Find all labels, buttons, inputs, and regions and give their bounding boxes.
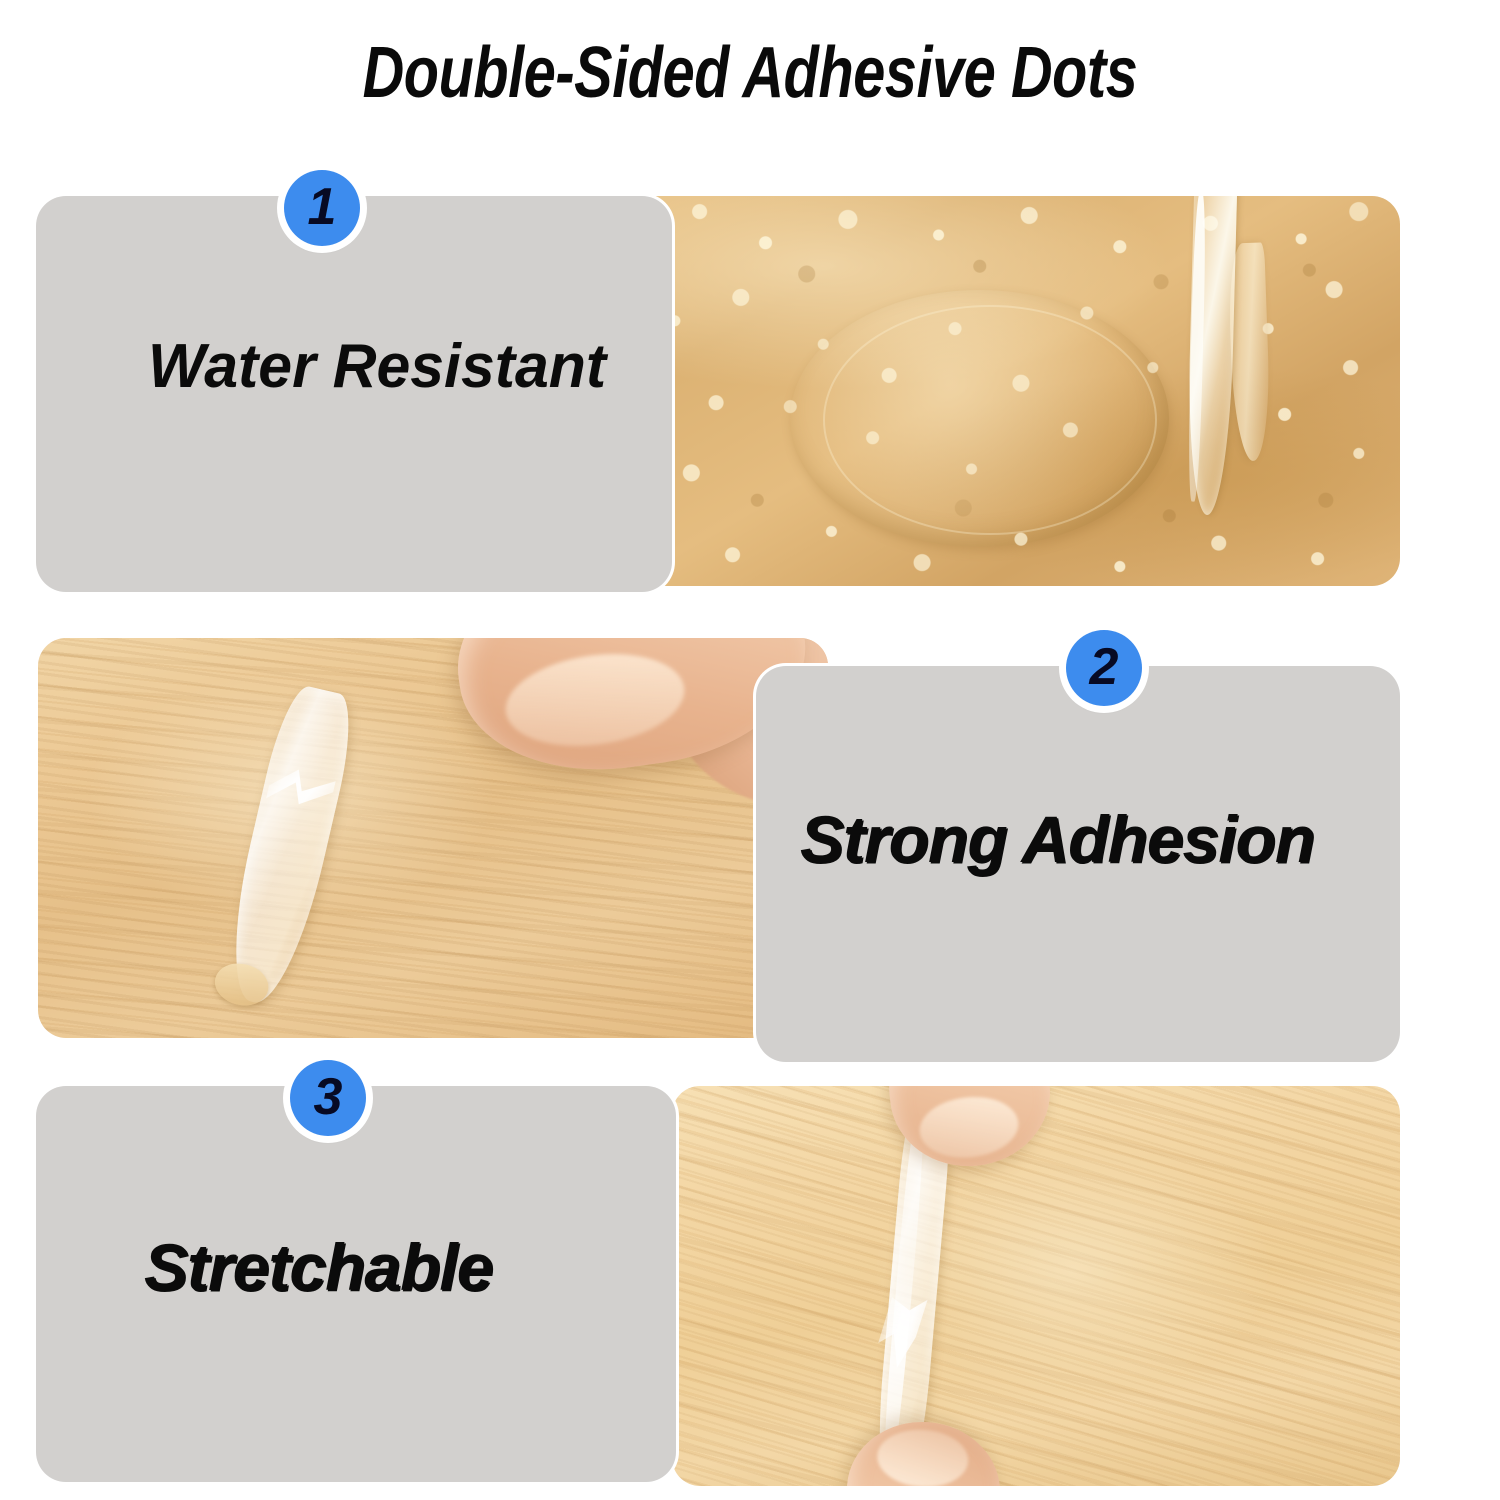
feature-1-step-number: 1 <box>308 181 337 233</box>
feature-1-label: Water Resistant <box>148 336 606 398</box>
infographic-page: Double-Sided Adhesive Dots Water Resista… <box>0 0 1500 1500</box>
feature-3-card: Stretchable <box>36 1086 676 1482</box>
feature-1-card: Water Resistant <box>36 196 672 592</box>
thumbnail-highlight <box>499 643 690 757</box>
strip-zigzag-highlight <box>262 764 336 828</box>
feature-3-label: Stretchable <box>144 1234 492 1300</box>
feature-3-step-number: 3 <box>314 1071 343 1123</box>
feature-3-step-badge: 3 <box>290 1060 366 1136</box>
page-title: Double-Sided Adhesive Dots <box>150 36 1350 112</box>
upper-fingernail <box>917 1092 1022 1163</box>
feature-2-step-number: 2 <box>1090 641 1119 693</box>
feature-2-step-badge: 2 <box>1066 630 1142 706</box>
feature-1-step-badge: 1 <box>284 170 360 246</box>
feature-2-card: Strong Adhesion <box>756 666 1400 1062</box>
feature-2-label: Strong Adhesion <box>800 806 1314 872</box>
lower-fingernail <box>875 1427 970 1486</box>
feature-1-photo <box>576 196 1400 586</box>
feature-3-photo <box>672 1086 1400 1486</box>
water-droplets <box>576 196 1400 586</box>
feature-2-photo <box>38 638 828 1038</box>
